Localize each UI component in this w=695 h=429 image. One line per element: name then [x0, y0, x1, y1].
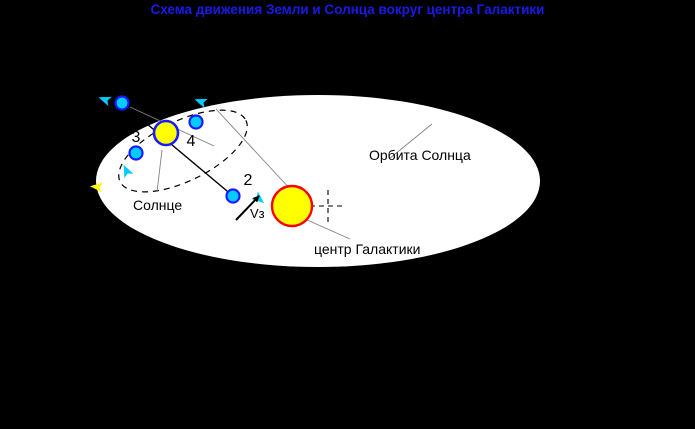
- earth-number-label-4: 4: [187, 133, 196, 150]
- diagram-stage: Схема движения Земли и Солнца вокруг цен…: [0, 0, 695, 429]
- sun-orbit-label: Орбита Солнца: [369, 147, 471, 163]
- galaxy-orbit-diagram: 342 СолнцеОрбита Солнцацентр ГалактикиVз: [0, 0, 695, 429]
- earth-body-3: [130, 147, 143, 160]
- sun-body: [154, 121, 178, 145]
- earth-body-4: [190, 116, 203, 129]
- earth-number-label-2: 2: [244, 172, 253, 189]
- earth-velocity-1: [97, 93, 112, 107]
- galactic-center-body: [272, 186, 312, 226]
- earth-body-2: [227, 190, 240, 203]
- earth-number-label-3: 3: [132, 129, 141, 146]
- page-title: Схема движения Земли и Солнца вокруг цен…: [0, 0, 695, 17]
- earth-velocity-label: Vз: [250, 206, 265, 221]
- earth-velocity-4: [193, 95, 208, 109]
- earth-body-1: [116, 97, 129, 110]
- galactic-center-label: центр Галактики: [314, 241, 420, 257]
- sun-label: Солнце: [133, 197, 182, 213]
